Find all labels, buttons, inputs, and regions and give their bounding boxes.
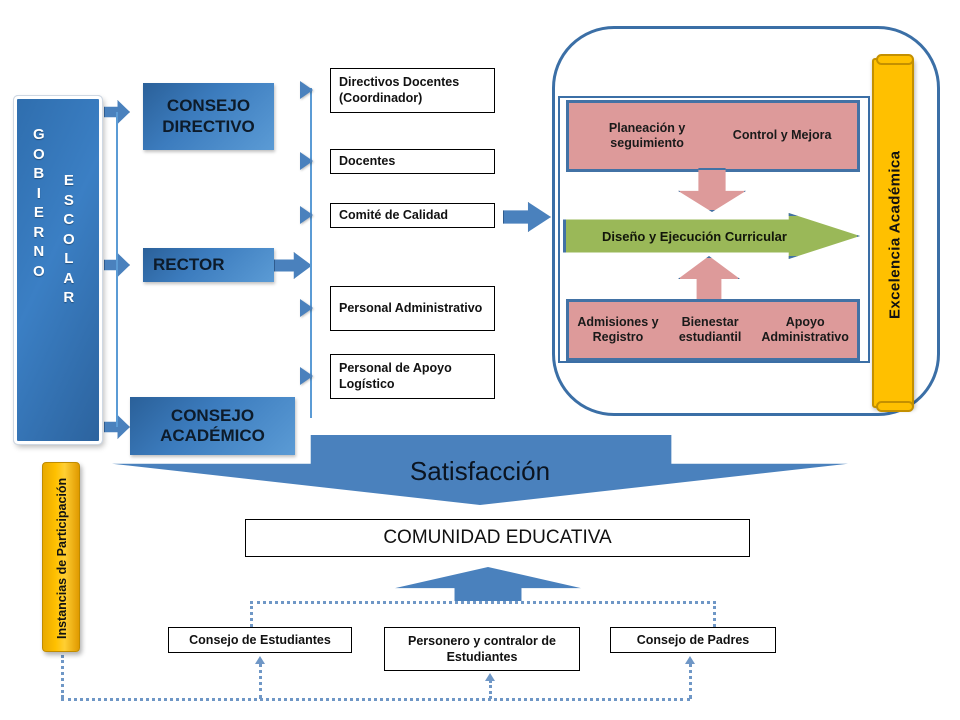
gobierno-escolar-banner: G O B I E R N O E S C O L A R (14, 96, 102, 444)
escolar-letters: E S C O L A R (63, 171, 75, 308)
dotted-line-bottom-horizontal (61, 698, 690, 701)
node-procesos-estrategicos[interactable]: Planeación y seguimiento Control y Mejor… (566, 100, 860, 172)
letter: O (63, 230, 75, 250)
label-excelencia-academica: Excelencia Académica (874, 60, 916, 410)
letter: G (33, 125, 45, 145)
arrow-comite-to-procesos (503, 202, 551, 232)
dotted-line-up-personero (489, 680, 492, 699)
letter: N (33, 242, 44, 262)
dotted-line-instancias-down (61, 655, 64, 698)
letter: R (33, 223, 44, 243)
letter: L (64, 249, 73, 269)
label-bienestar-estudiantil: Bienestar estudiantil (667, 315, 753, 346)
arrow-to-personal-apoyo (300, 367, 313, 385)
label-instancias-participacion: Instancias de Participación (43, 463, 81, 653)
banner-connector-line (116, 112, 118, 427)
node-consejo-academico[interactable]: CONSEJO ACADÉMICO (130, 397, 295, 455)
letter: R (63, 288, 74, 308)
arrowhead-up-estudiantes (255, 656, 265, 664)
label-apoyo-administrativo: Apoyo Administrativo (753, 315, 857, 346)
letter: S (64, 191, 74, 211)
letter: E (34, 203, 44, 223)
node-consejo-de-padres[interactable]: Consejo de Padres (610, 627, 776, 653)
node-consejo-directivo[interactable]: CONSEJO DIRECTIVO (143, 83, 274, 150)
letter: B (33, 164, 44, 184)
label-diseno-ejecucion-curricular: Diseño y Ejecución Curricular (566, 229, 787, 244)
node-personal-administrativo[interactable]: Personal Administrativo (330, 286, 495, 331)
node-personero-contralor[interactable]: Personero y contralor de Estudiantes (384, 627, 580, 671)
label-satisfaccion: Satisfacción (410, 456, 550, 505)
node-rector[interactable]: RECTOR (143, 248, 274, 282)
node-comite-de-calidad[interactable]: Comité de Calidad (330, 203, 495, 228)
letter: O (33, 262, 45, 282)
node-personal-apoyo-logistico[interactable]: Personal de Apoyo Logístico (330, 354, 495, 399)
arrow-participacion-a-comunidad (395, 567, 581, 601)
arrow-rector-to-trunk (274, 252, 312, 279)
letter: O (33, 145, 45, 165)
letter: C (63, 210, 74, 230)
dotted-line-up-estudiantes (259, 663, 262, 699)
node-docentes[interactable]: Docentes (330, 149, 495, 174)
label-control-mejora: Control y Mejora (707, 128, 857, 143)
letter: I (37, 184, 41, 204)
diagram-canvas: G O B I E R N O E S C O L A R CONSEJO DI… (0, 0, 960, 720)
node-excelencia-academica[interactable]: Excelencia Académica (872, 58, 914, 408)
node-directivos-docentes[interactable]: Directivos Docentes (Coordinador) (330, 68, 495, 113)
dotted-line-up-padres (689, 663, 692, 699)
instancias-participacion-banner: Instancias de Participación (42, 462, 80, 652)
arrowhead-up-personero (485, 673, 495, 681)
node-consejo-de-estudiantes[interactable]: Consejo de Estudiantes (168, 627, 352, 653)
arrowhead-up-padres (685, 656, 695, 664)
letter: E (64, 171, 74, 191)
arrow-to-directivos-docentes (300, 81, 313, 99)
gobierno-letters: G O B I E R N O (33, 125, 45, 281)
label-planeacion-seguimiento: Planeación y seguimiento (569, 121, 707, 152)
arrow-to-personal-administrativo (300, 299, 313, 317)
dotted-line-to-padres (713, 601, 716, 627)
arrow-to-docentes (300, 152, 313, 170)
arrow-to-comite-calidad (300, 206, 313, 224)
dotted-line-to-estudiantes (250, 601, 253, 627)
dotted-line-top-horizontal (250, 601, 716, 604)
node-comunidad-educativa[interactable]: COMUNIDAD EDUCATIVA (245, 519, 750, 557)
letter: A (63, 269, 74, 289)
label-admisiones-registro: Admisiones y Registro (569, 315, 667, 346)
node-procesos-apoyo[interactable]: Admisiones y Registro Bienestar estudian… (566, 299, 860, 361)
